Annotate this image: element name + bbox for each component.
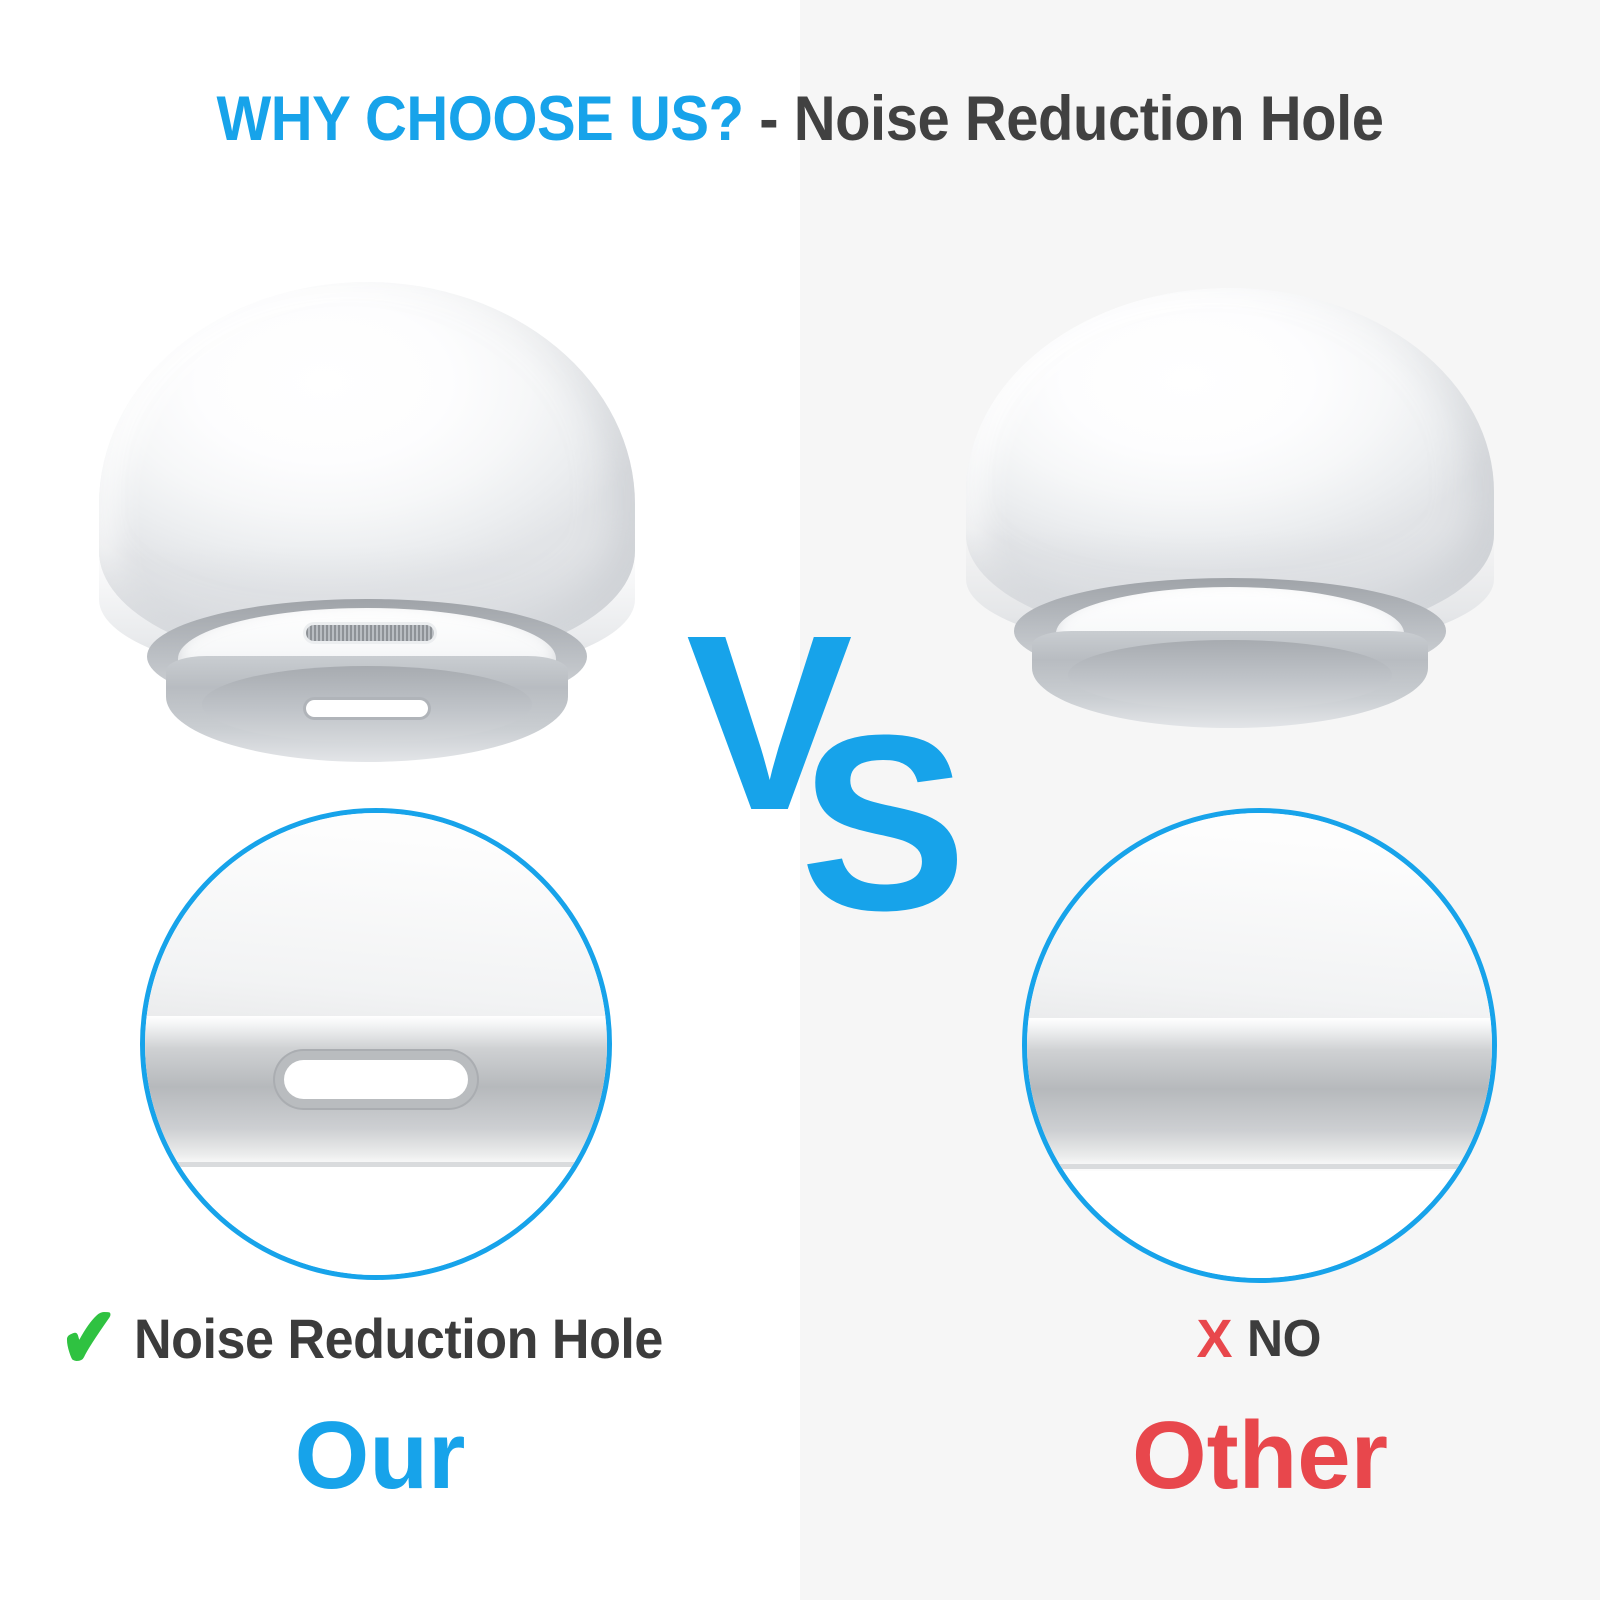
page-title-separator: - xyxy=(744,84,794,154)
right-caption-label: NO xyxy=(1247,1313,1321,1365)
right-caption-row: X NO xyxy=(1020,1296,1500,1382)
comparison-infographic: WHY CHOOSE US? - Noise Reduction Hole V … xyxy=(0,0,1600,1600)
right-magnifier-circle xyxy=(1022,808,1497,1283)
page-title-highlight: WHY CHOOSE US? xyxy=(217,84,744,154)
page-title-rest: Noise Reduction Hole xyxy=(794,84,1384,154)
eartip-skirt-inner xyxy=(1068,640,1392,710)
magnified-dome-surface xyxy=(1022,808,1497,1018)
page-title: WHY CHOOSE US? - Noise Reduction Hole xyxy=(64,88,1536,151)
magnified-lower-area xyxy=(1022,1171,1497,1283)
magnified-collar-band xyxy=(1022,1018,1497,1167)
magnified-lip-edge xyxy=(140,1162,612,1167)
noise-reduction-hole xyxy=(306,700,428,717)
right-product-image xyxy=(930,288,1530,728)
right-brand-label: Other xyxy=(1020,1408,1500,1504)
check-icon: ✔ xyxy=(60,1296,117,1381)
left-magnifier-circle xyxy=(140,808,612,1280)
left-caption-row: ✔ Noise Reduction Hole xyxy=(20,1296,740,1382)
magnified-lip-edge xyxy=(1022,1164,1497,1169)
magnified-lower-area xyxy=(140,1169,612,1280)
left-brand-label: Our xyxy=(120,1408,640,1504)
x-icon: X xyxy=(1196,1312,1232,1366)
noise-reduction-mesh-slot xyxy=(306,625,434,640)
magnified-noise-reduction-hole xyxy=(284,1060,469,1099)
magnified-dome-surface xyxy=(140,808,612,1016)
left-caption-label: Noise Reduction Hole xyxy=(134,1311,663,1367)
left-product-image xyxy=(62,282,672,762)
eartip-right xyxy=(930,288,1530,728)
eartip-left xyxy=(62,282,672,762)
